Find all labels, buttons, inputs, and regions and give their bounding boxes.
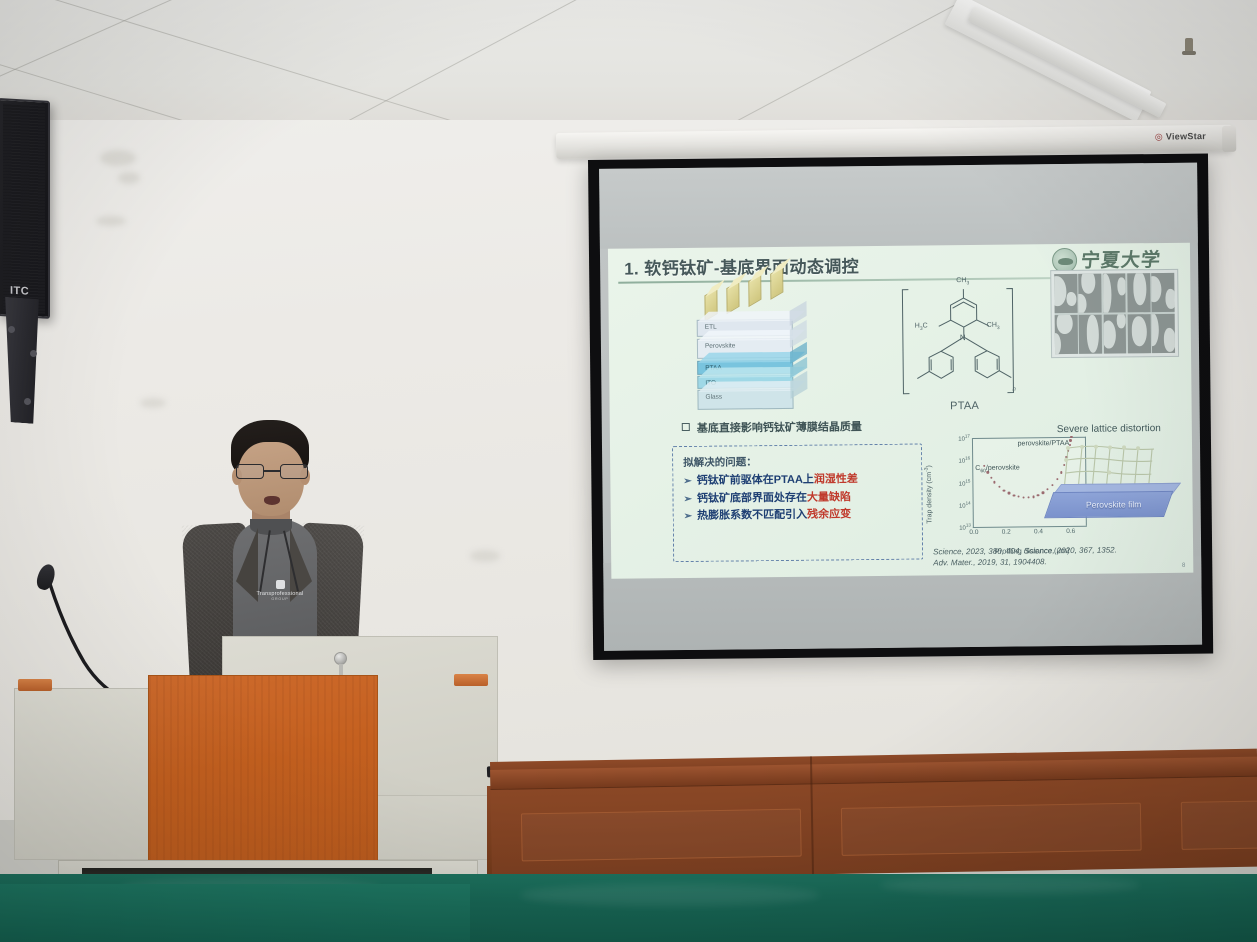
problem-item: ➢热膨胀系数不匹配引入残余应变	[684, 508, 912, 523]
chart-data-point	[1013, 494, 1015, 496]
projection-screen: 1. 软钙钛矿-基底界面动态调控 宁夏大学 NINGXIA UNIVERSITY	[588, 154, 1213, 660]
sprinkler-head-icon	[1185, 38, 1193, 54]
chart-data-point	[998, 485, 1000, 487]
mouth	[264, 496, 280, 505]
slide-references: Science, 2023, 380, 404. Science, 2020, …	[933, 544, 1117, 569]
speaker-grille	[3, 103, 45, 313]
chart-x-tick: 0.2	[1002, 529, 1011, 536]
podium-lock-icon	[334, 652, 347, 665]
chart-data-point	[1022, 496, 1024, 498]
shirt-logo-mark-icon	[276, 580, 285, 589]
sem-cell	[1054, 274, 1077, 313]
chart-y-tick: 1015	[959, 478, 971, 487]
perovskite-film-label: Perovskite film	[1059, 499, 1169, 510]
slide-statement: 基底直接影响钙钛矿薄膜结晶质量	[682, 418, 862, 436]
chart-x-tick: 0.0	[969, 529, 978, 536]
ceiling	[0, 0, 1257, 140]
sem-cell	[1079, 274, 1102, 313]
screen-brand-label: ◎ ViewStar	[1155, 131, 1206, 143]
chart-data-point	[1003, 489, 1005, 491]
atom-label-ch3-right: CH3	[987, 322, 1000, 332]
problem-list-box: 拟解决的问题： ➢钙钛矿前驱体在PTAA上润湿性差 ➢钙钛矿底部界面处存在大量缺…	[672, 444, 923, 563]
problem-box-heading: 拟解决的问题：	[683, 453, 911, 470]
bullet-arrow-icon: ➢	[684, 511, 693, 522]
sem-cell	[1079, 314, 1102, 353]
podium-left-panel	[14, 688, 159, 860]
chart-y-tick: 1017	[958, 434, 970, 443]
atom-label-ch3-top: CH3	[956, 277, 969, 287]
wall-speaker: ITC	[0, 98, 53, 326]
sem-cell	[1151, 273, 1174, 312]
sem-cell	[1128, 314, 1151, 353]
bullet-arrow-icon: ➢	[683, 476, 692, 487]
chart-data-point	[990, 477, 992, 479]
presentation-slide: 1. 软钙钛矿-基底界面动态调控 宁夏大学 NINGXIA UNIVERSITY	[608, 243, 1193, 579]
molecule-name-label: PTAA	[900, 399, 1030, 412]
stack-layer-label: Glass	[705, 394, 722, 401]
shirt-logo-line2: GROUP	[256, 597, 304, 601]
lattice-distortion-diagram: Severe lattice distortion	[1034, 423, 1185, 545]
sem-cell	[1055, 315, 1078, 354]
sem-cell	[1152, 314, 1175, 353]
chart-data-point	[1008, 492, 1010, 494]
lens-left	[236, 464, 264, 479]
stage-desk	[490, 749, 1257, 880]
lens-right	[280, 464, 308, 479]
lecture-hall-photo: ITC ◎ ViewStar 1. 软钙钛矿-基底界面动态调控 宁夏大学 NIN…	[0, 0, 1257, 942]
lattice-panel-title: Severe lattice distortion	[1034, 423, 1184, 436]
chart-data-point	[993, 481, 995, 483]
sem-cell	[1103, 273, 1126, 312]
chart-y-tick: 1016	[958, 456, 970, 465]
eyeglasses	[236, 464, 308, 479]
reference-line: Adv. Mater., 2019, 31, 1904408.	[933, 556, 1117, 570]
reference-line: Science, 2023, 380, 404. Science, 2020, …	[933, 544, 1117, 558]
podium-cap-left	[18, 679, 52, 691]
podium-cap-right	[454, 674, 488, 686]
stack-layer-label: Perovskite	[705, 342, 735, 349]
checkbox-icon	[682, 423, 690, 431]
podium-wood-front	[148, 675, 378, 867]
chart-y-tick: 1014	[959, 500, 971, 509]
repeat-unit-label: n	[1012, 387, 1015, 393]
problem-item: ➢钙钛矿前驱体在PTAA上润湿性差	[683, 473, 911, 488]
chart-data-point	[1027, 496, 1029, 498]
shirt-logo: Transprofessional GROUP	[256, 580, 304, 601]
chart-y-axis-label: Trap density (cm-3)	[923, 446, 933, 542]
chart-data-point	[1018, 495, 1020, 497]
speaker-brand-label: ITC	[10, 285, 29, 298]
sem-cell	[1127, 273, 1150, 312]
ceiling-light-fixture-secondary	[968, 6, 1167, 118]
sem-image-grid	[1050, 269, 1179, 358]
device-stack-diagram: ETL Perovskite PTAA	[696, 295, 817, 406]
atom-label-nitrogen: N	[960, 333, 966, 342]
problem-item: ➢钙钛矿底部界面处存在大量缺陷	[683, 490, 911, 505]
foreground-carpet	[0, 884, 470, 942]
atom-label-h3c: H3C	[915, 322, 928, 332]
chart-annotation: C60/perovskite	[975, 465, 1020, 475]
ptaa-molecule-diagram: CH3 H3C CH3 N n PTAA	[898, 274, 1029, 410]
bullet-arrow-icon: ➢	[683, 494, 692, 505]
slide-page-number: 8	[1182, 563, 1185, 569]
sem-cell	[1103, 314, 1126, 353]
